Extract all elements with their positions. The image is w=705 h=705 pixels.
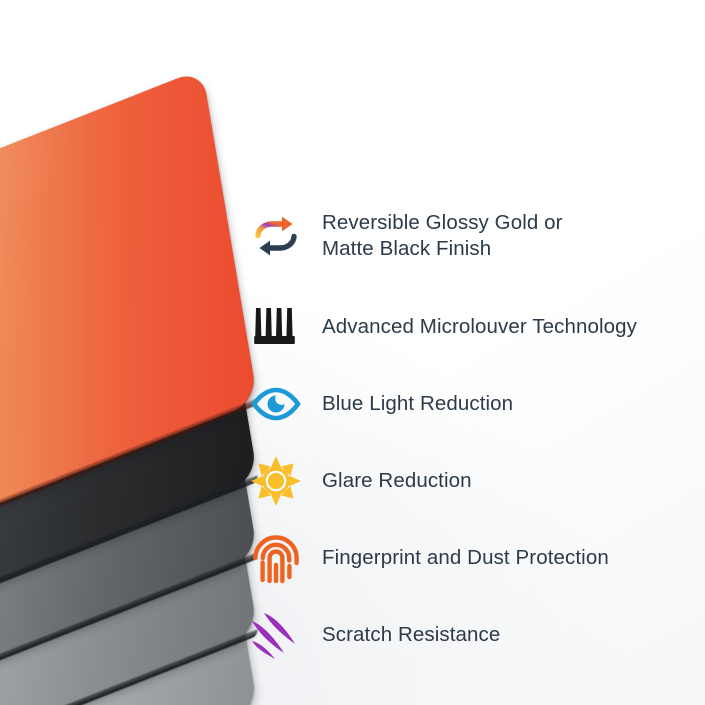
feature-label-glare: Glare Reduction [322,468,472,495]
feature-row-blue-light: Blue Light Reduction [246,374,513,434]
feature-label-blue-light: Blue Light Reduction [322,391,513,418]
infographic-canvas: Reversible Glossy Gold or Matte Black Fi… [0,0,705,705]
feature-label-reversible: Reversible Glossy Gold or Matte Black Fi… [322,210,563,263]
feature-row-glare: Glare Reduction [246,451,472,511]
feature-row-scratch: Scratch Resistance [246,605,500,665]
feature-label-scratch: Scratch Resistance [322,622,500,649]
eye-icon [246,374,306,434]
sun-icon [246,451,306,511]
fingerprint-icon [246,528,306,588]
reversible-arrows-icon [246,206,306,266]
scratch-claw-icon [246,605,306,665]
feature-label-fingerprint: Fingerprint and Dust Protection [322,545,609,572]
feature-row-reversible: Reversible Glossy Gold or Matte Black Fi… [246,206,563,266]
feature-row-microlouver: Advanced Microlouver Technology [246,297,637,357]
feature-row-fingerprint: Fingerprint and Dust Protection [246,528,609,588]
microlouver-comb-icon [246,297,306,357]
feature-label-microlouver: Advanced Microlouver Technology [322,314,637,341]
